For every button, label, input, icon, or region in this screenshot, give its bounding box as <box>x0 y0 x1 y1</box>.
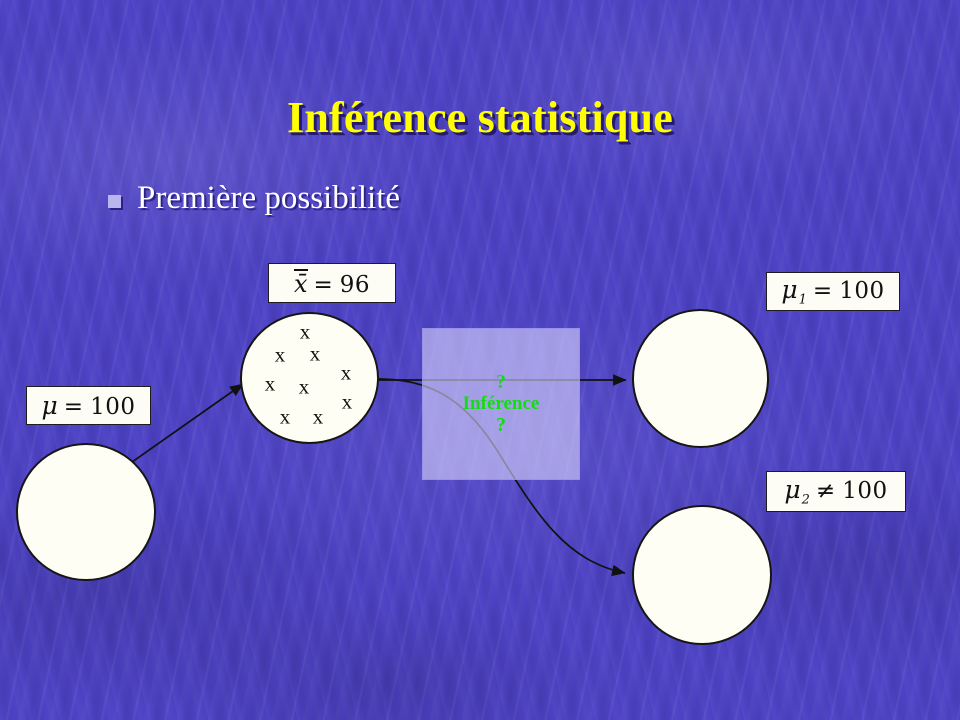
hypothesis-1-symbol: μ <box>781 275 798 304</box>
hypothesis-2-operator: ≠ <box>816 478 836 504</box>
population-mean-operator: = <box>64 394 84 420</box>
hypothesis-1-subscript: 1 <box>799 293 808 308</box>
inference-label: Inférence <box>463 394 540 414</box>
hypothesis-2-symbol: μ <box>784 475 801 504</box>
population-mean-box: μ=100 <box>26 386 151 425</box>
sample-mean-value: 96 <box>340 272 370 298</box>
hypothesis-1-value: 100 <box>839 278 884 304</box>
sample-x-mark: x <box>341 363 352 384</box>
population-mean-symbol: μ <box>42 391 59 420</box>
inference-callout: ? Inférence ? <box>422 328 580 480</box>
page-title: Inférence statistique <box>0 92 960 143</box>
hypothesis-1-operator: = <box>813 278 833 304</box>
hypothesis-2-circle <box>632 505 772 645</box>
sample-mean-box: x̄=96 <box>268 263 396 303</box>
bullet-item-label: Première possibilité <box>137 180 400 217</box>
hypothesis-2-subscript: 2 <box>802 493 811 508</box>
sample-mean-symbol: x̄ <box>294 269 309 296</box>
sample-circle: x x x x x x x x x <box>240 312 379 444</box>
hypothesis-1-circle <box>632 309 769 448</box>
square-bullet-icon <box>108 195 121 208</box>
sample-x-mark: x <box>313 407 324 428</box>
population-mean-value: 100 <box>90 394 135 420</box>
sample-mean-operator: = <box>313 272 333 298</box>
sample-x-mark: x <box>275 345 286 366</box>
hypothesis-2-box: μ2≠100 <box>766 471 906 512</box>
slide-canvas: Inférence statistique Première possibili… <box>0 0 960 720</box>
population-circle <box>16 443 156 581</box>
hypothesis-2-value: 100 <box>842 478 887 504</box>
sample-x-mark: x <box>300 322 311 343</box>
sample-x-mark: x <box>342 392 353 413</box>
inference-question-bottom: ? <box>496 415 506 436</box>
hypothesis-1-box: μ1=100 <box>766 272 900 311</box>
sample-x-mark: x <box>265 374 276 395</box>
sample-x-mark: x <box>299 377 310 398</box>
bullet-list-item: Première possibilité <box>108 180 400 217</box>
inference-question-top: ? <box>496 372 506 393</box>
sample-x-mark: x <box>310 344 321 365</box>
sample-x-mark: x <box>280 407 291 428</box>
